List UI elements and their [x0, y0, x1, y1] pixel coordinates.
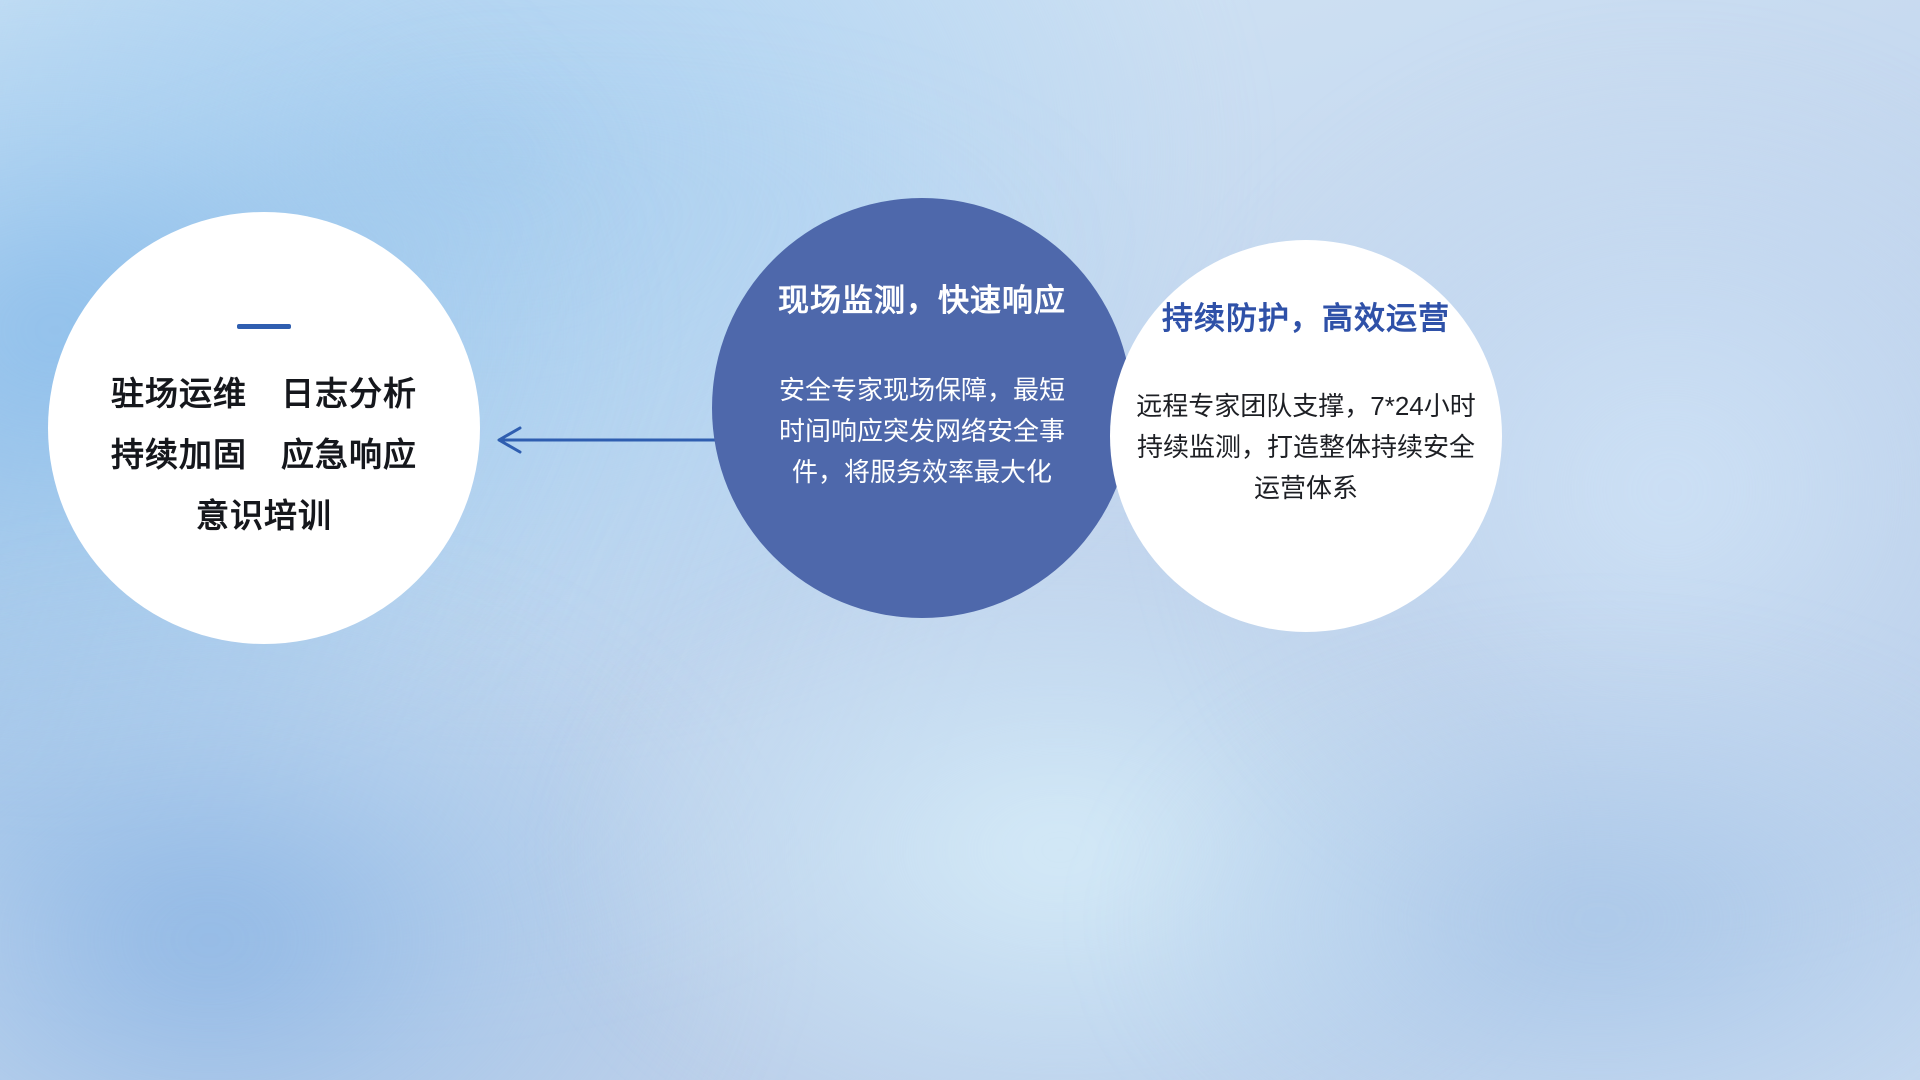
right-operations-circle[interactable]: 持续防护，高效运营 远程专家团队支撑，7*24小时持续监测，打造整体持续安全运营…	[1110, 240, 1502, 632]
capability-list: 驻场运维 日志分析 持续加固 应急响应 意识培训	[111, 377, 417, 532]
middle-circle-title: 现场监测，快速响应	[778, 284, 1066, 318]
capability-line-1: 驻场运维 日志分析	[111, 377, 417, 410]
capability-line-2: 持续加固 应急响应	[111, 438, 417, 471]
divider-dash	[237, 324, 291, 329]
capability-line-3: 意识培训	[196, 499, 332, 532]
middle-circle-body: 安全专家现场保障，最短时间响应突发网络安全事件，将服务效率最大化	[772, 370, 1072, 493]
middle-onsite-circle[interactable]: 现场监测，快速响应 安全专家现场保障，最短时间响应突发网络安全事件，将服务效率最…	[712, 198, 1132, 618]
right-circle-body: 远程专家团队支撑，7*24小时持续监测，打造整体持续安全运营体系	[1131, 386, 1481, 509]
right-circle-title: 持续防护，高效运营	[1162, 302, 1450, 336]
slide-canvas: 驻场运维 日志分析 持续加固 应急响应 意识培训 现场监测，快速响应 安全专家现…	[0, 0, 1920, 1080]
left-capability-circle[interactable]: 驻场运维 日志分析 持续加固 应急响应 意识培训	[48, 212, 480, 644]
